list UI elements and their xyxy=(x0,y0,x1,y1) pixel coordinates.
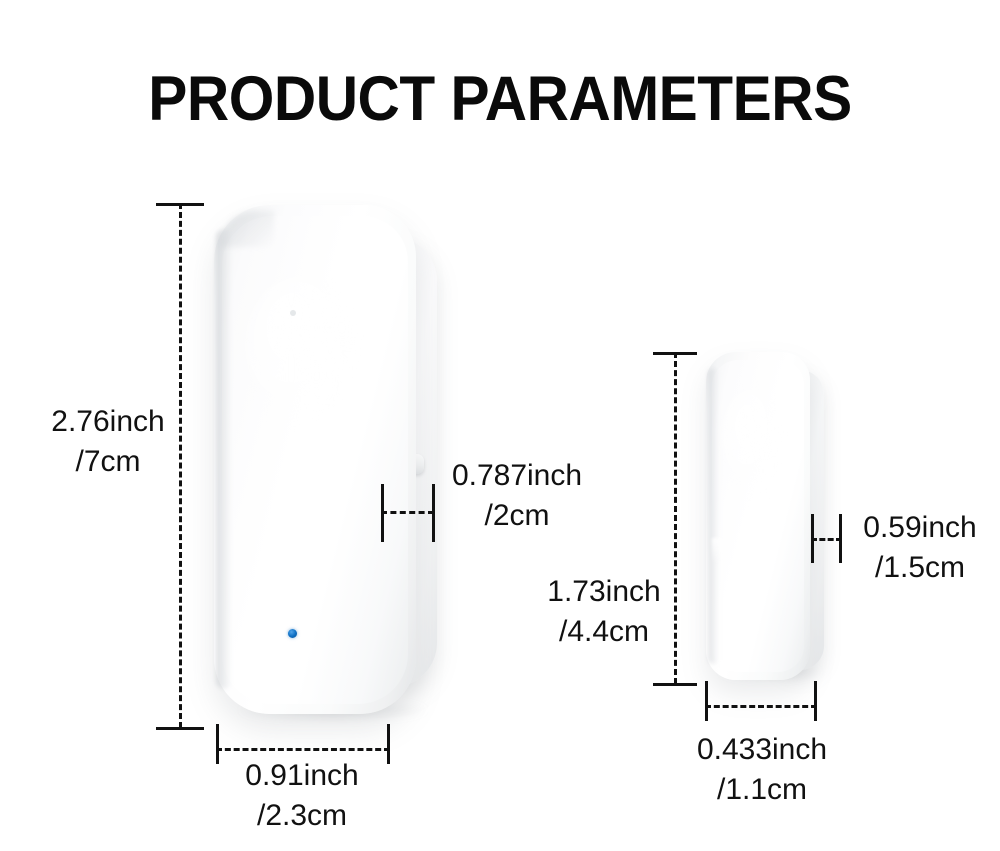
sensor-large-led-indicator xyxy=(288,629,297,638)
dim-small-height-tick-bottom xyxy=(653,683,697,686)
dim-small-depth-line xyxy=(811,538,842,541)
magnet-small-highlight xyxy=(720,388,784,498)
dim-small-width-tick-right xyxy=(814,681,817,721)
dim-large-width-tick-right xyxy=(387,724,390,764)
dim-large-height-line xyxy=(179,203,182,728)
dim-large-height-label: 2.76inch /7cm xyxy=(38,402,178,481)
magnet-small-unit-image xyxy=(706,352,836,684)
dim-large-width-line xyxy=(216,748,390,751)
dim-large-width-label: 0.91inch /2.3cm xyxy=(228,756,376,835)
dim-large-height-value-inch: 2.76inch xyxy=(51,405,164,438)
dim-large-height-value-cm: /7cm xyxy=(38,442,178,482)
sensor-large-surface-dot xyxy=(290,310,296,316)
dim-large-depth-value-cm: /2cm xyxy=(443,496,591,536)
dim-large-width-value-cm: /2.3cm xyxy=(228,796,376,836)
sensor-large-unit-image xyxy=(214,205,434,717)
dim-large-width-value-inch: 0.91inch xyxy=(245,759,358,792)
dim-large-depth-line xyxy=(381,511,434,514)
dim-large-depth-tick-right xyxy=(432,484,435,542)
dim-small-width-label: 0.433inch /1.1cm xyxy=(686,730,838,809)
magnet-small-left-rim xyxy=(708,368,719,664)
dim-small-depth-label: 0.59inch /1.5cm xyxy=(852,508,988,587)
dim-small-depth-tick-right xyxy=(839,514,842,563)
magnet-small-seam-mark xyxy=(712,538,722,564)
sensor-large-top-left-rim xyxy=(220,211,274,247)
dim-small-depth-value-cm: /1.5cm xyxy=(852,548,988,588)
dim-small-height-label: 1.73inch /4.4cm xyxy=(534,572,674,651)
dim-small-width-value-inch: 0.433inch xyxy=(697,733,827,766)
dim-large-depth-label: 0.787inch /2cm xyxy=(443,456,591,535)
dim-large-height-tick-bottom xyxy=(156,727,204,730)
dim-small-width-value-cm: /1.1cm xyxy=(686,770,838,810)
sensor-large-highlight xyxy=(244,275,362,425)
product-parameters-page: PRODUCT PARAMETERS 2.76inch /7cm 0.787in… xyxy=(0,0,1000,851)
dim-small-depth-value-inch: 0.59inch xyxy=(863,511,976,544)
dim-small-width-line xyxy=(705,705,817,708)
dim-large-depth-value-inch: 0.787inch xyxy=(452,459,582,492)
dim-small-height-value-cm: /4.4cm xyxy=(534,612,674,652)
dim-small-height-line xyxy=(674,352,677,684)
dim-small-width-tick-left xyxy=(705,681,708,721)
sensor-large-left-rim xyxy=(216,229,232,689)
dim-large-width-tick-left xyxy=(216,724,219,764)
dim-small-height-value-inch: 1.73inch xyxy=(547,575,660,608)
page-title: PRODUCT PARAMETERS xyxy=(35,68,965,131)
